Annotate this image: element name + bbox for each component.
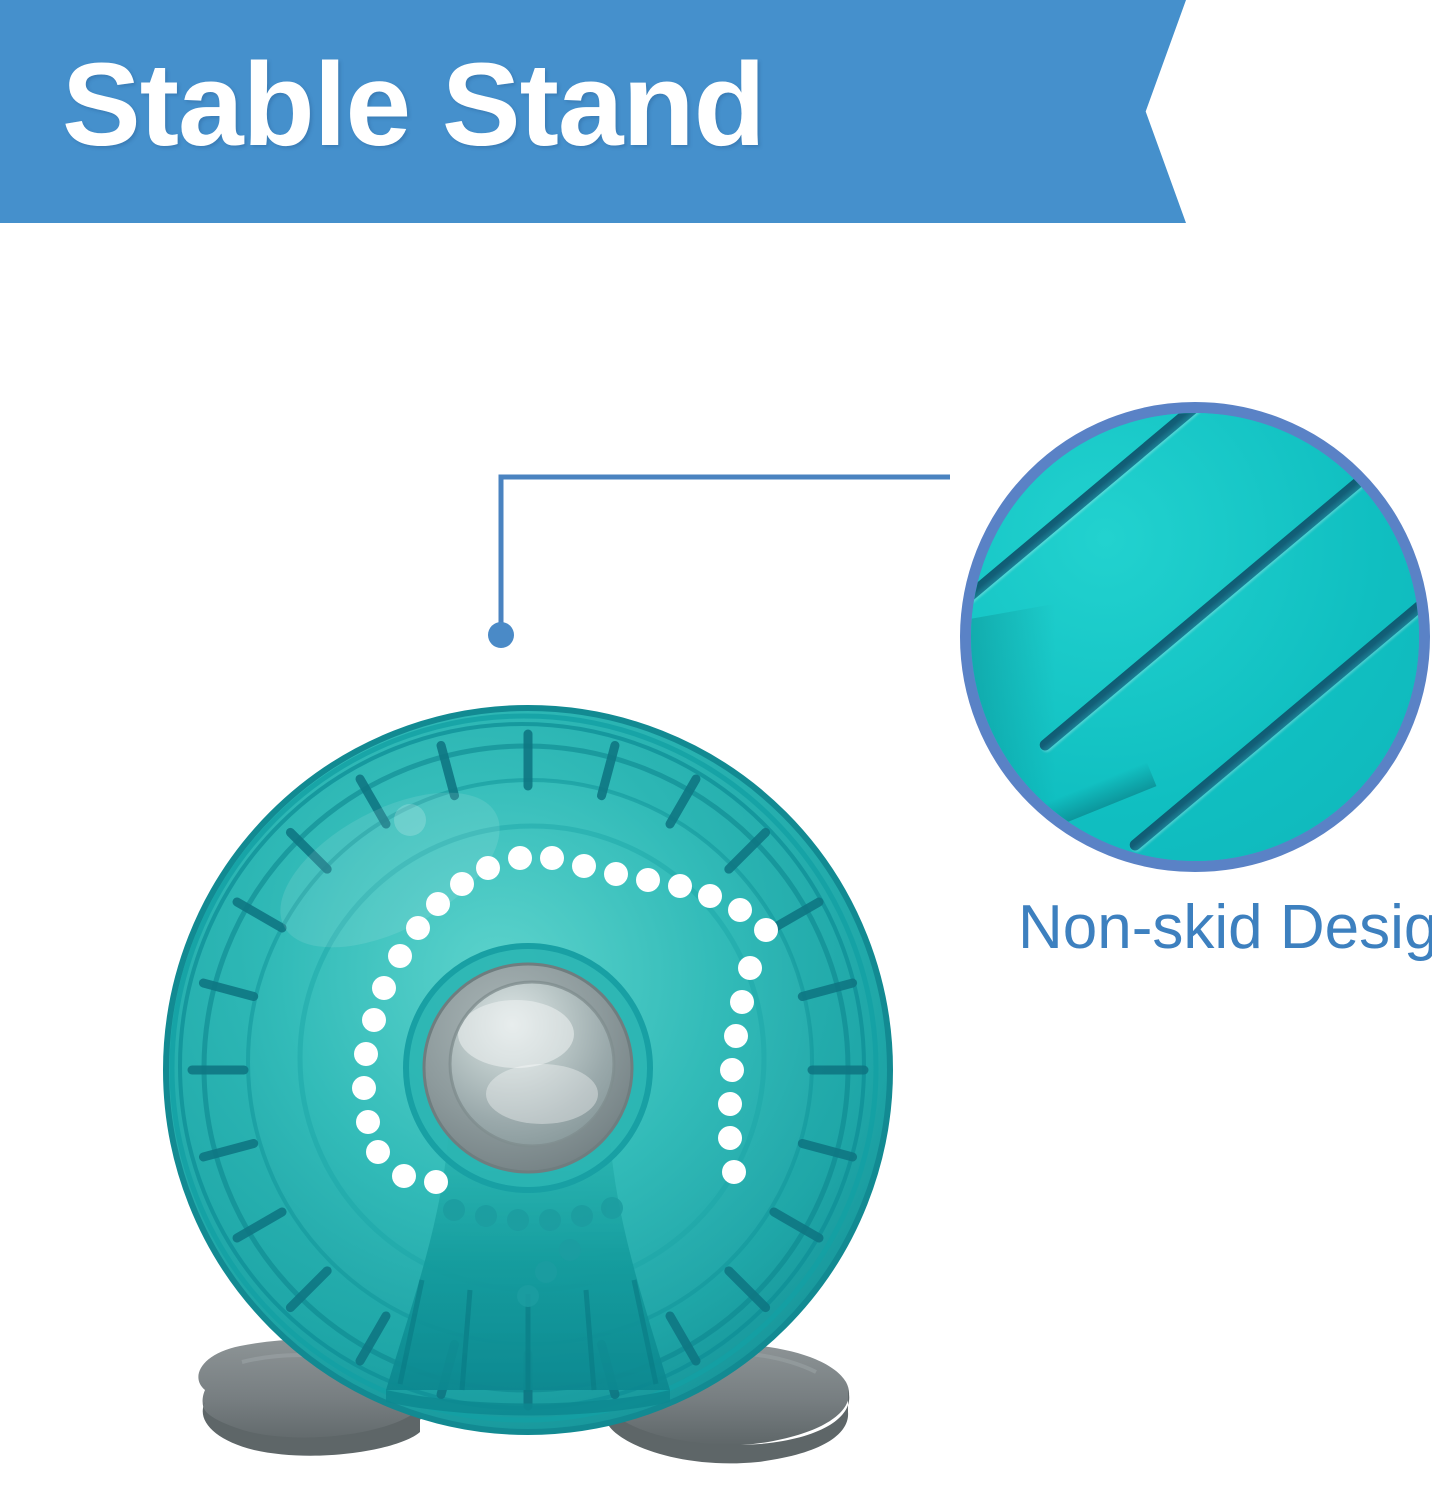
wheel-graphic bbox=[150, 690, 910, 1500]
gloss-speck bbox=[394, 804, 426, 836]
wheel-hub bbox=[406, 946, 650, 1190]
page-title: Stable Stand bbox=[62, 30, 1012, 180]
leader-line-path bbox=[501, 477, 950, 635]
callout-leader-line bbox=[480, 460, 980, 660]
magnifier-caption: Non-skid Design bbox=[1018, 892, 1432, 963]
product-photo bbox=[150, 690, 910, 1500]
product-feature-image: Stable Stand Non-skid Design bbox=[0, 0, 1432, 1500]
magnifier-circle bbox=[960, 402, 1430, 872]
leader-line-dot bbox=[488, 622, 514, 648]
wheel-body bbox=[166, 708, 890, 1432]
